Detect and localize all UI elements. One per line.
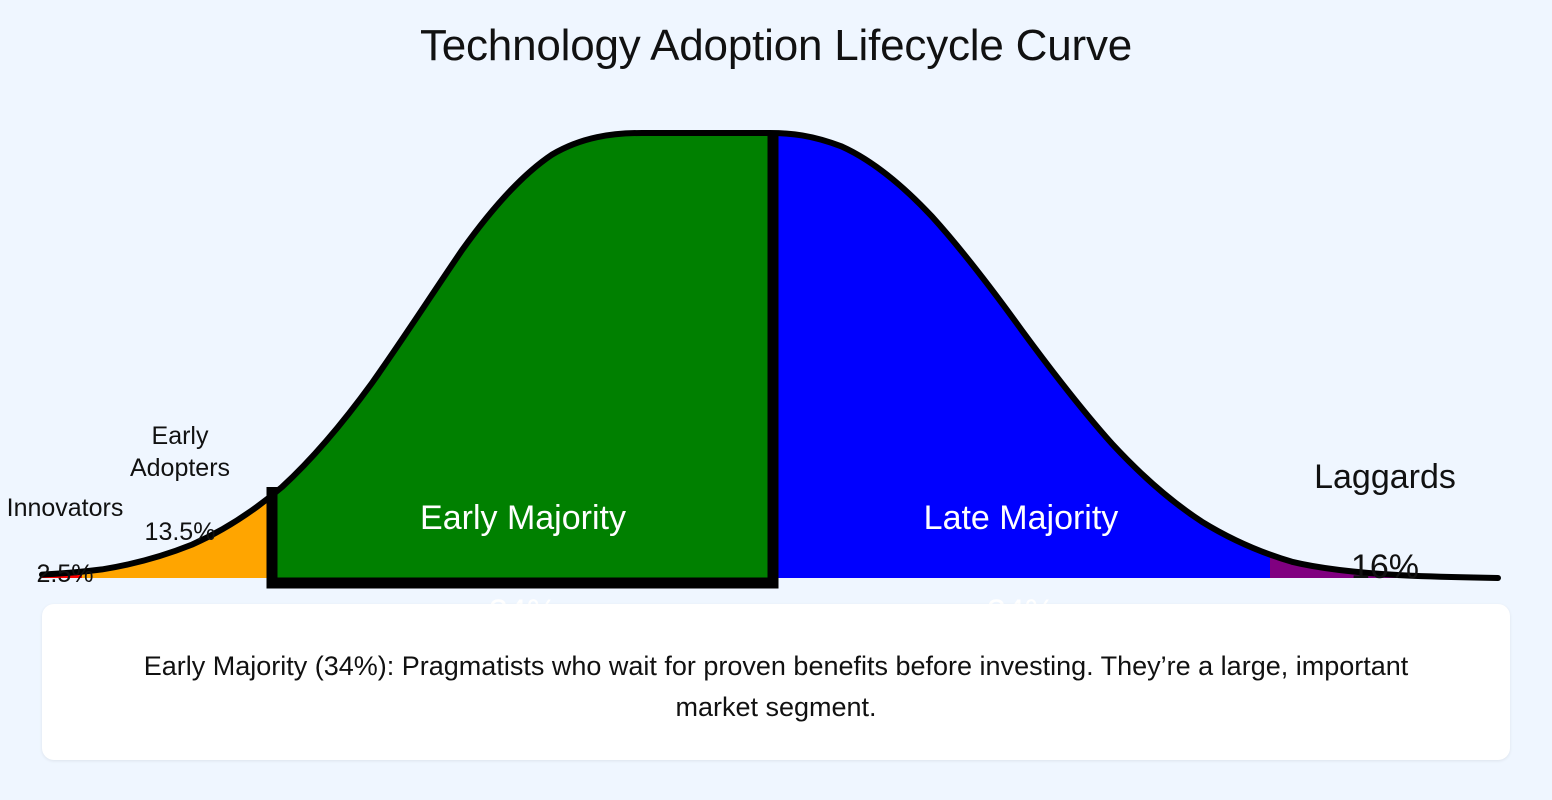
bell-curve-chart: Innovators 2.5% Early Adopters 13.5% Ear… <box>0 0 1552 600</box>
band-late-majority[interactable] <box>770 100 1270 578</box>
band-laggards[interactable] <box>1270 100 1498 578</box>
band-innovators[interactable] <box>42 100 82 578</box>
bell-curve-svg <box>0 0 1552 600</box>
band-early-majority[interactable] <box>272 100 770 578</box>
adoption-curve-page: Technology Adoption Lifecycle Curve Inno… <box>0 0 1552 800</box>
band-early-adopters[interactable] <box>82 100 272 578</box>
segment-detail-card: Early Majority (34%): Pragmatists who wa… <box>42 604 1510 760</box>
segment-detail-text: Early Majority (34%): Pragmatists who wa… <box>102 646 1450 728</box>
